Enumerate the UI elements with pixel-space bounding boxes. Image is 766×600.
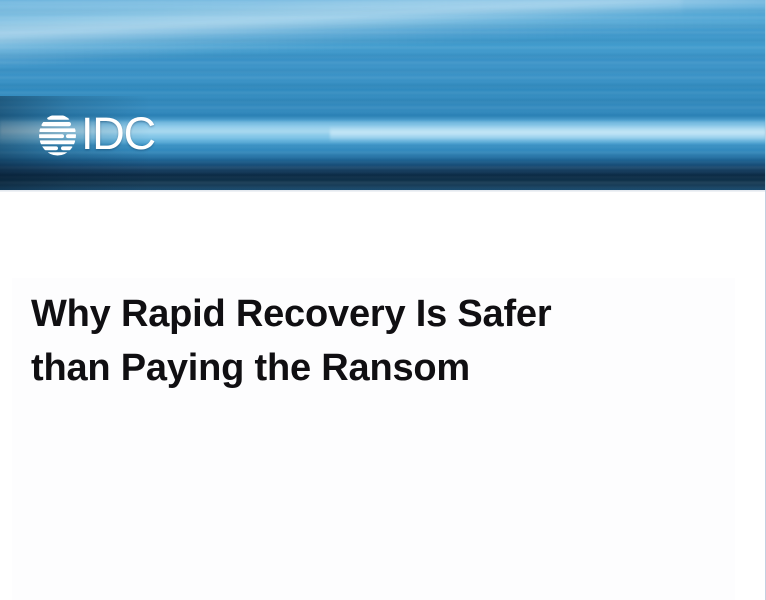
idc-logo: IDC xyxy=(38,111,155,159)
page-title-line-1: Why Rapid Recovery Is Safer xyxy=(31,287,631,341)
idc-wordmark: IDC xyxy=(81,111,155,156)
idc-globe-icon xyxy=(38,114,77,156)
header-banner xyxy=(0,0,766,190)
banner-divider xyxy=(0,190,766,192)
banner-bright-streak-right xyxy=(330,126,766,142)
page-title: Why Rapid Recovery Is Safer than Paying … xyxy=(31,287,631,395)
document-page: IDC Why Rapid Recovery Is Safer than Pay… xyxy=(0,0,766,600)
page-title-line-2: than Paying the Ransom xyxy=(31,341,631,395)
